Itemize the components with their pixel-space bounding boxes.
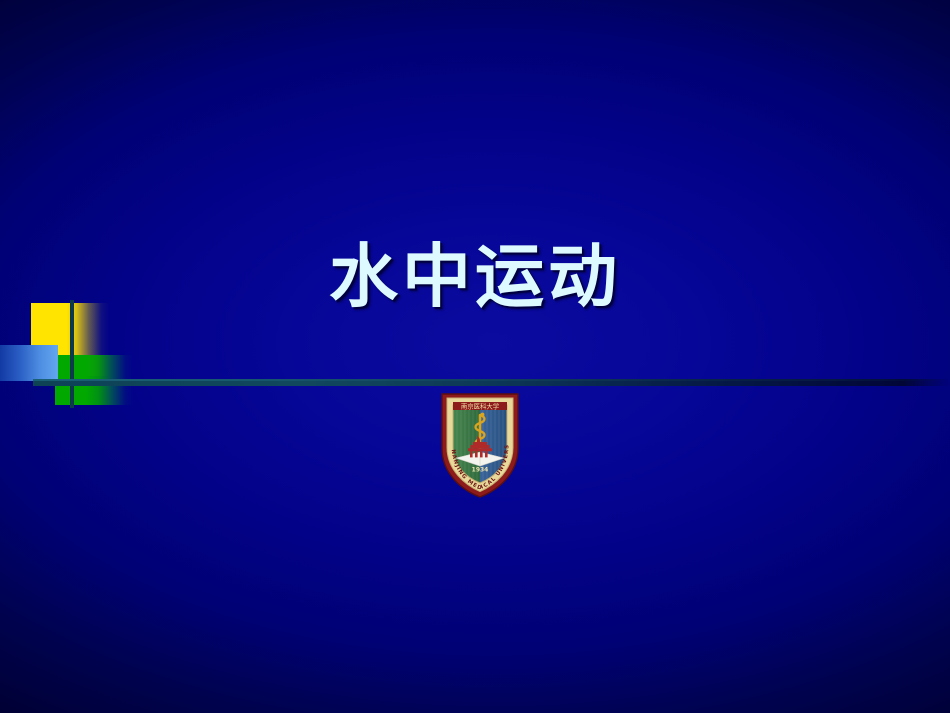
slide-title: 水中运动 [0,243,950,312]
presentation-slide: 水中运动 [0,0,950,713]
crest-chinese-name: 南京医科大学 [461,402,500,411]
decorative-vertical-rule [70,300,74,408]
decorative-blue-rectangle [0,345,58,381]
crest-founded-year: 1934 [472,467,489,474]
university-crest-logo: 南京医科大学 [436,390,524,500]
horizontal-divider-highlight [33,379,950,381]
